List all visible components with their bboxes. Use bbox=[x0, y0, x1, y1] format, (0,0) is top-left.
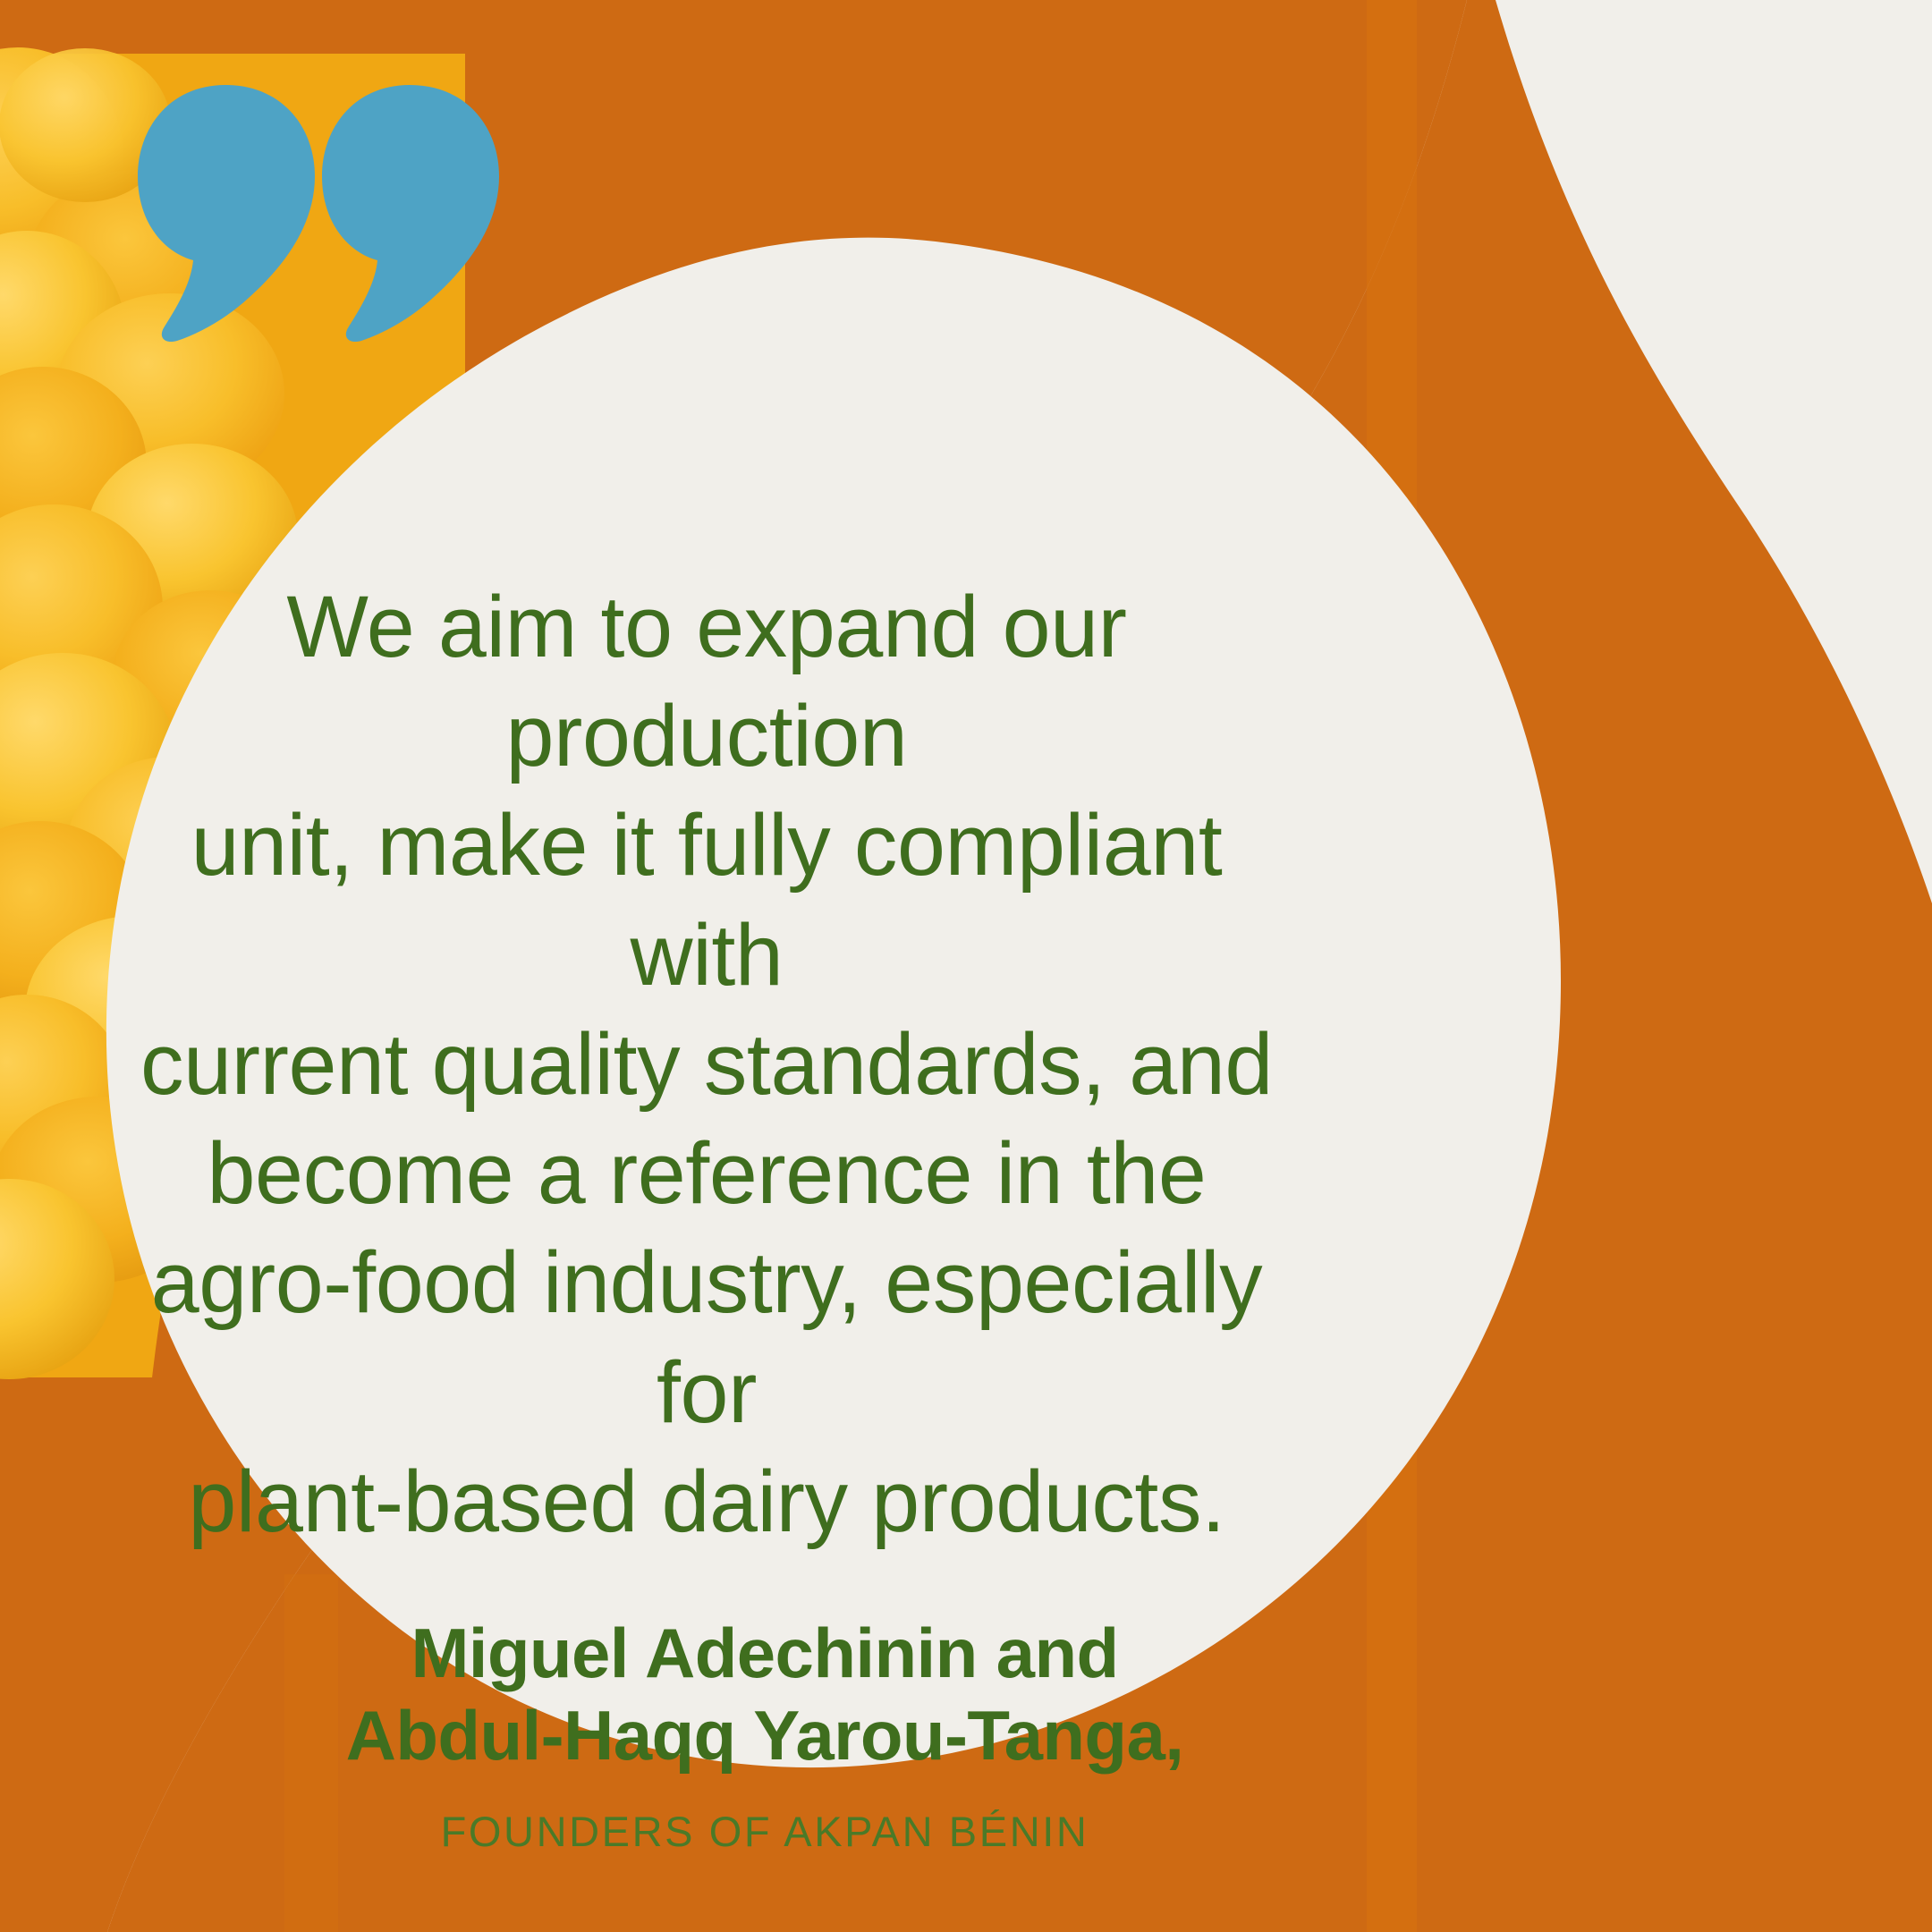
quote-card: We aim to expand our production unit, ma… bbox=[0, 0, 1932, 1932]
quote-content: We aim to expand our production unit, ma… bbox=[63, 572, 1351, 1857]
attribution-role: FOUNDERS OF AKPAN BÉNIN bbox=[215, 1807, 1315, 1857]
quote-mark-right bbox=[322, 85, 499, 342]
attribution-block: Miguel Adechinin and Abdul-Haqq Yarou-Ta… bbox=[63, 1612, 1351, 1857]
quote-mark-left bbox=[138, 85, 315, 342]
double-quote-icon bbox=[125, 76, 501, 344]
quote-text: We aim to expand our production unit, ma… bbox=[63, 572, 1351, 1556]
attribution-name: Miguel Adechinin and Abdul-Haqq Yarou-Ta… bbox=[215, 1612, 1315, 1776]
